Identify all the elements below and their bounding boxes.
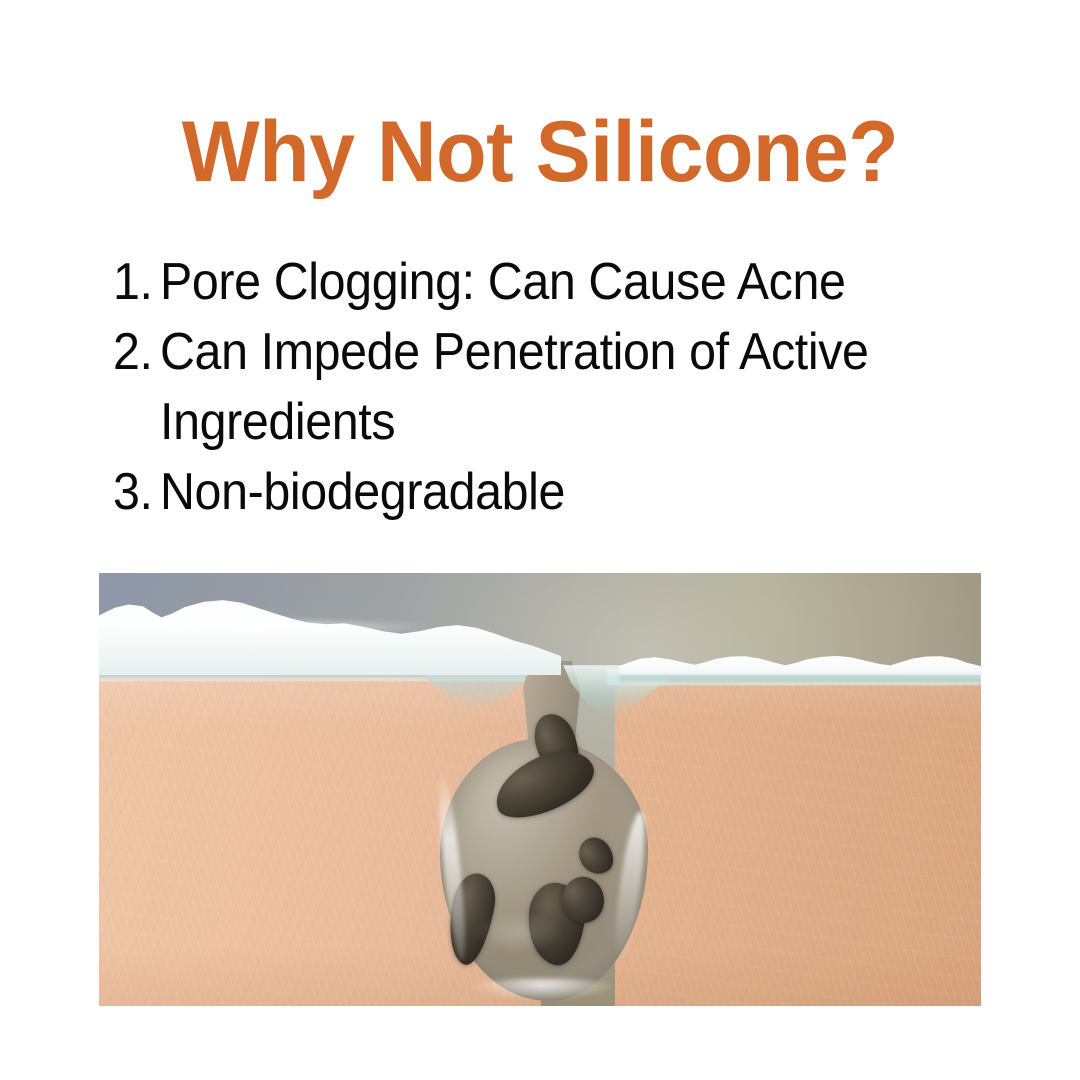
list-item-label: Pore Clogging: Can Cause Acne <box>160 247 956 317</box>
list-item-label: Non-biodegradable <box>160 457 956 527</box>
list-item: 3. Non-biodegradable <box>96 457 1016 527</box>
list-item-label: Can Impede Penetration of Active Ingredi… <box>160 317 956 457</box>
pore-rim-highlight <box>468 978 618 1000</box>
list-item: 1. Pore Clogging: Can Cause Acne <box>96 247 1016 317</box>
cream-underline <box>619 675 981 685</box>
clogged-pore <box>434 661 654 1006</box>
list-item: 2. Can Impede Penetration of Active Ingr… <box>96 317 1016 457</box>
page-title: Why Not Silicone? <box>22 104 1059 200</box>
list-item-number: 3. <box>100 457 160 527</box>
cream-body <box>619 645 981 679</box>
cream-layer-left <box>99 589 561 675</box>
skin-block-right <box>615 677 981 1006</box>
cream-sheen <box>119 618 439 637</box>
skin-cross-section-illustration <box>99 573 981 1006</box>
pore-inner-glow <box>474 911 564 953</box>
poster-canvas: Why Not Silicone? 1. Pore Clogging: Can … <box>0 0 1080 1080</box>
list-item-number: 2. <box>100 317 160 387</box>
reasons-list: 1. Pore Clogging: Can Cause Acne 2. Can … <box>96 247 1016 527</box>
skin-texture <box>615 677 981 1006</box>
list-item-number: 1. <box>100 247 160 317</box>
cream-layer-right <box>619 645 981 679</box>
